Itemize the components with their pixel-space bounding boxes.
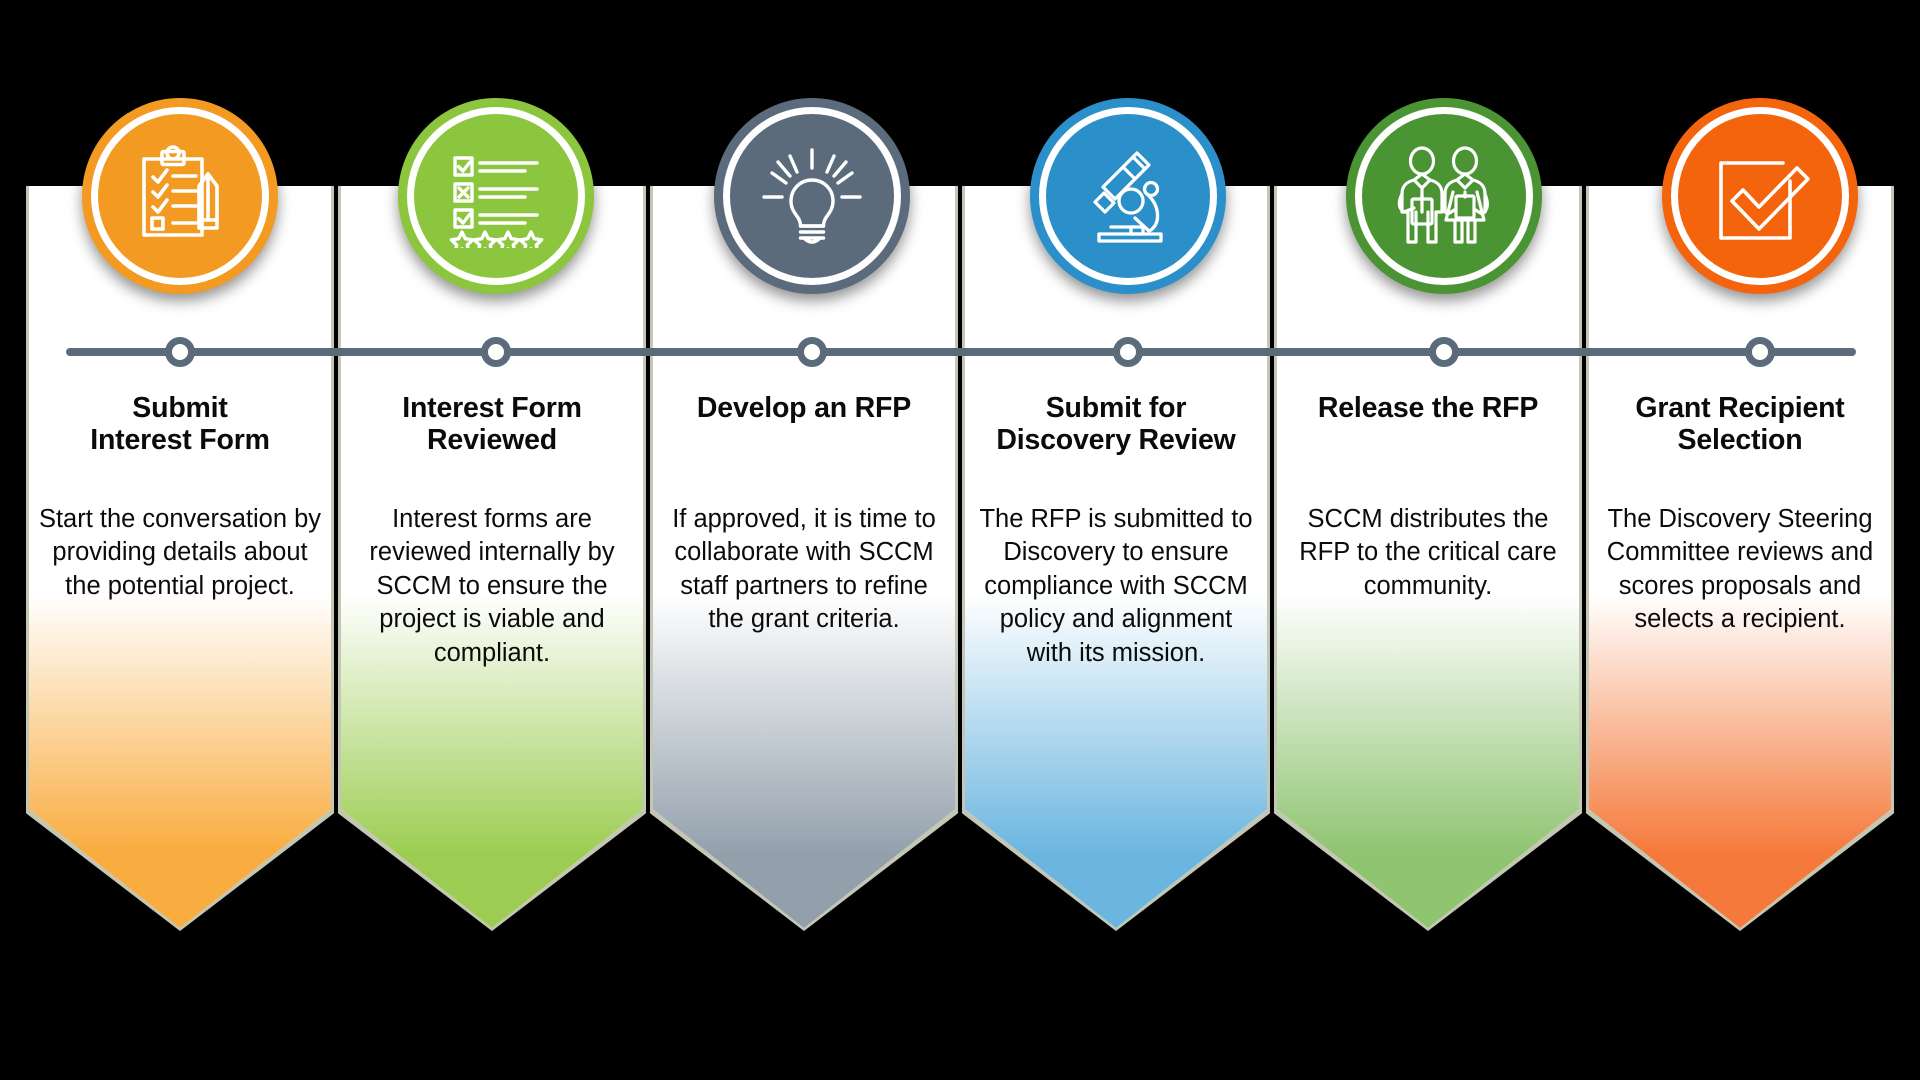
step-title-line2: Discovery Review — [996, 424, 1235, 456]
banner-gradient-5 — [1277, 594, 1579, 928]
step-title-6: Grant Recipient Selection — [1592, 393, 1888, 456]
step-icon-badge-5[interactable] — [1346, 98, 1542, 294]
banner-gradient-3 — [653, 594, 955, 928]
timeline-node-4[interactable] — [1113, 337, 1143, 367]
step-body-4: The RFP is submitted to Discovery to ens… — [974, 503, 1258, 670]
step-body-1: Start the conversation by providing deta… — [38, 503, 322, 603]
step-title-line1: Grant Recipient — [1635, 392, 1844, 424]
step-body-2: Interest forms are reviewed internally b… — [350, 503, 634, 670]
step-body-3: If approved, it is time to collaborate w… — [662, 503, 946, 637]
infographic-stage: Submit Interest Form Start the conversat… — [0, 0, 1920, 1080]
timeline-node-5[interactable] — [1429, 337, 1459, 367]
step-title-4: Submit for Discovery Review — [968, 393, 1264, 456]
step-title-line2: Reviewed — [427, 424, 557, 456]
timeline-node-6[interactable] — [1745, 337, 1775, 367]
timeline-rail — [66, 348, 1856, 356]
step-icon-badge-1[interactable] — [82, 98, 278, 294]
timeline-node-3[interactable] — [797, 337, 827, 367]
banner-gradient-1 — [29, 594, 331, 928]
step-title-5: Release the RFP — [1280, 393, 1576, 425]
step-title-3: Develop an RFP — [656, 393, 952, 425]
step-column-3[interactable]: Develop an RFP If approved, it is time t… — [650, 186, 958, 931]
checkmark-box-icon — [1707, 143, 1813, 249]
step-column-1[interactable]: Submit Interest Form Start the conversat… — [26, 186, 334, 931]
step-column-5[interactable]: Release the RFP SCCM distributes the RFP… — [1274, 186, 1582, 931]
timeline-node-1[interactable] — [165, 337, 195, 367]
step-icon-badge-3[interactable] — [714, 98, 910, 294]
step-column-2[interactable]: Interest Form Reviewed Interest forms ar… — [338, 186, 646, 931]
checklist-star-rating-icon — [444, 144, 548, 248]
step-title-line2: Selection — [1678, 424, 1803, 456]
step-title-line1: Develop an RFP — [697, 392, 911, 424]
step-icon-badge-4[interactable] — [1030, 98, 1226, 294]
lightbulb-idea-icon — [758, 142, 866, 250]
microscope-icon — [1075, 143, 1181, 249]
step-title-line1: Submit — [132, 392, 227, 424]
step-banner-row: Submit Interest Form Start the conversat… — [26, 186, 1894, 931]
step-column-4[interactable]: Submit for Discovery Review The RFP is s… — [962, 186, 1270, 931]
step-body-6: The Discovery Steering Committee reviews… — [1598, 503, 1882, 637]
step-title-line1: Interest Form — [402, 392, 582, 424]
step-title-2: Interest Form Reviewed — [344, 393, 640, 456]
step-title-line1: Release the RFP — [1318, 392, 1538, 424]
banner-gradient-6 — [1589, 594, 1891, 928]
two-business-people-icon — [1392, 144, 1496, 248]
step-title-line1: Submit for — [1046, 392, 1187, 424]
timeline-node-2[interactable] — [481, 337, 511, 367]
step-body-5: SCCM distributes the RFP to the critical… — [1286, 503, 1570, 603]
step-column-6[interactable]: Grant Recipient Selection The Discovery … — [1586, 186, 1894, 931]
step-title-line2: Interest Form — [90, 424, 270, 456]
step-icon-badge-6[interactable] — [1662, 98, 1858, 294]
step-icon-badge-2[interactable] — [398, 98, 594, 294]
step-title-1: Submit Interest Form — [32, 393, 328, 456]
clipboard-checklist-pencil-icon — [128, 144, 232, 248]
